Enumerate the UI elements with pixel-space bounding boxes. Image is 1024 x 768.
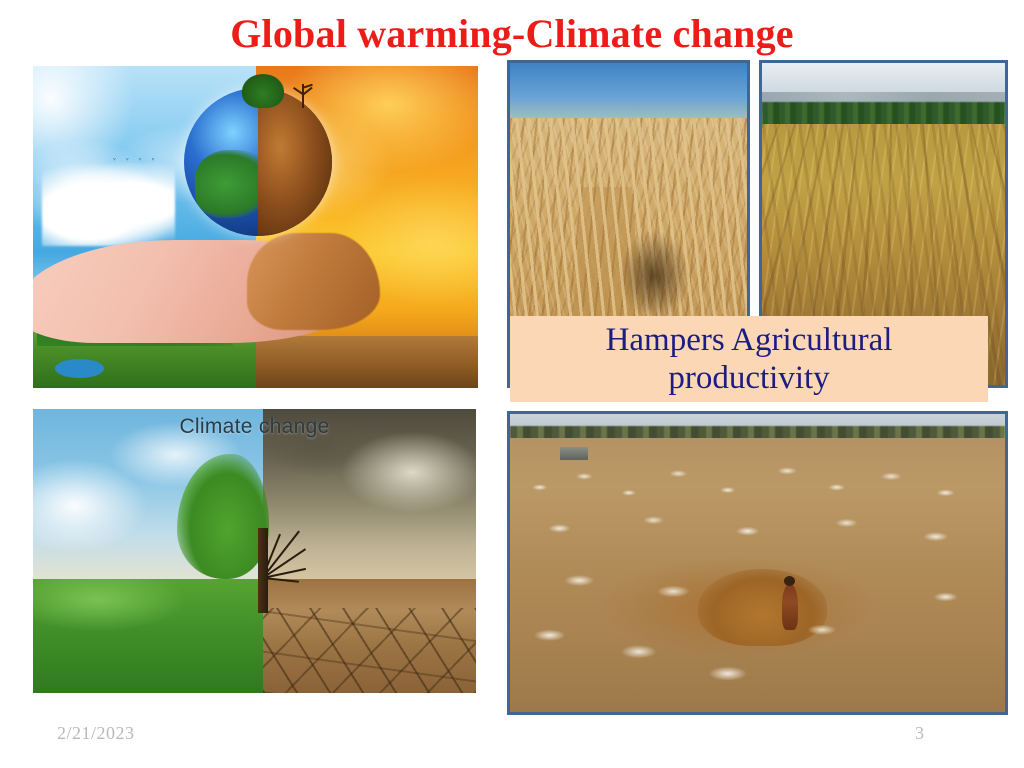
tree-icon [242, 74, 284, 108]
callout-line-1: Hampers Agricultural [606, 322, 893, 358]
tree-trunk [258, 528, 268, 613]
climate-change-caption: Climate change [33, 415, 476, 439]
slide-canvas: Global warming-Climate change ᵛ ᵛ ᵛ ᵛ [0, 0, 1024, 768]
footer-date: 2/21/2023 [57, 723, 135, 744]
cracked-earth-texture [263, 608, 476, 693]
callout-line-2: productivity [668, 360, 829, 396]
hand-burnt-shape [247, 233, 381, 330]
herder-figure [782, 584, 798, 630]
globe-shape [184, 88, 332, 236]
dead-plant-clump [619, 230, 690, 320]
scorched-land [256, 336, 479, 388]
footer-page-number: 3 [915, 723, 924, 744]
page-title: Global warming-Climate change [0, 12, 1024, 56]
bare-branches [263, 454, 359, 579]
image-dead-livestock-drought [507, 411, 1008, 715]
birds-shape: ᵛ ᵛ ᵛ ᵛ [113, 156, 193, 182]
callout-text: Hampers Agricultural productivity [596, 321, 903, 397]
image-climate-change-tree: Climate change [33, 409, 476, 693]
dead-tree-icon [280, 72, 326, 108]
image-earth-in-hand: ᵛ ᵛ ᵛ ᵛ [33, 66, 478, 388]
callout-textbox: Hampers Agricultural productivity [510, 316, 988, 402]
green-field [33, 579, 263, 693]
cattle-carcasses [510, 438, 1005, 712]
